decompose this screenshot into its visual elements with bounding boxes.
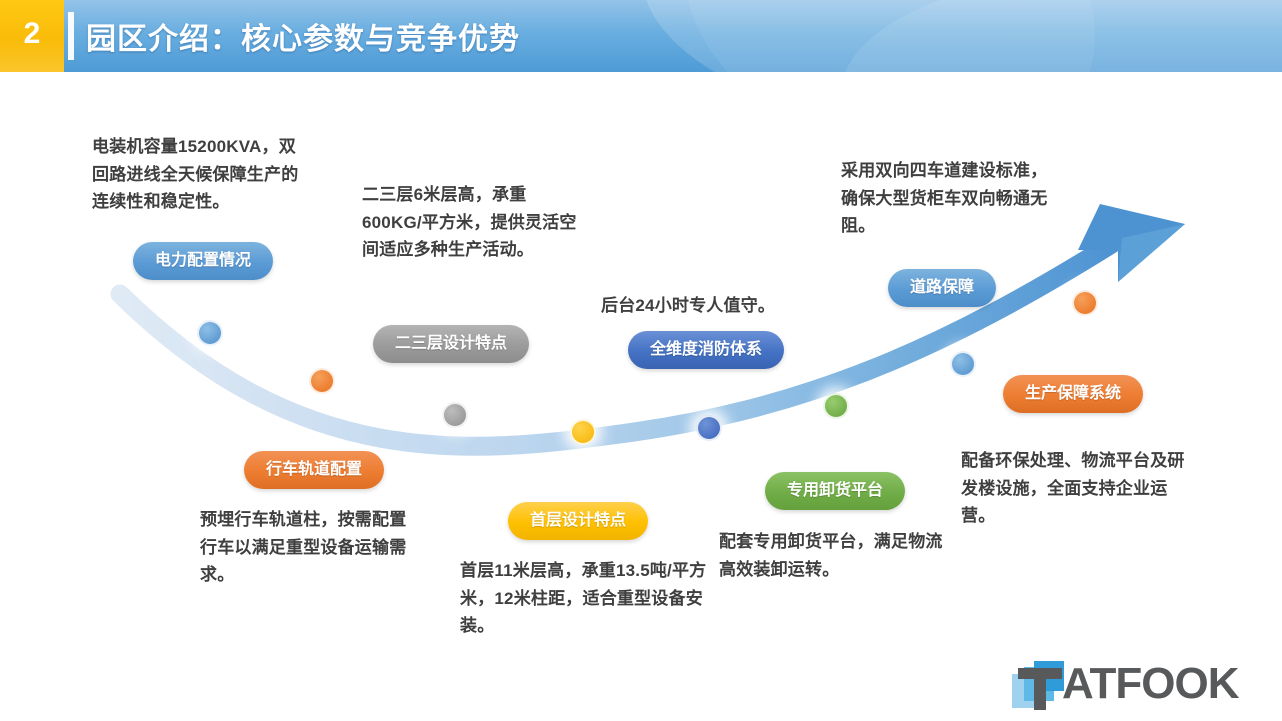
node-dot-unloading-platform <box>823 393 849 419</box>
tatfook-logo-mark-icon <box>1012 660 1064 708</box>
pill-floor-2-3[interactable]: 二三层设计特点 <box>373 325 529 363</box>
logo-letter-t <box>1018 668 1062 710</box>
header-decoration-curve-3 <box>646 0 1138 72</box>
slide: 2 园区介绍：核心参数与竞争优势 <box>0 0 1282 721</box>
pill-floor-1[interactable]: 首层设计特点 <box>508 502 648 540</box>
node-text-production-support: 配备环保处理、物流平台及研发楼设施，全面支持企业运营。 <box>961 447 1188 530</box>
logo-wordmark: ATFOOK <box>1062 660 1239 708</box>
node-dot-fire-system <box>696 415 722 441</box>
slide-number: 2 <box>24 17 41 51</box>
node-text-crane-rail: 预埋行车轨道柱，按需配置行车以满足重型设备运输需求。 <box>200 506 420 589</box>
node-text-road: 采用双向四车道建设标准，确保大型货柜车双向畅通无阻。 <box>841 157 1055 240</box>
pill-production-support[interactable]: 生产保障系统 <box>1003 375 1143 413</box>
node-dot-crane-rail <box>309 368 335 394</box>
node-dot-power <box>197 320 223 346</box>
pill-unloading-platform[interactable]: 专用卸货平台 <box>765 472 905 510</box>
node-text-floor-1: 首层11米层高，承重13.5吨/平方米，12米柱距，适合重型设备安装。 <box>460 557 710 640</box>
slide-number-badge: 2 <box>0 0 64 72</box>
pill-fire-system[interactable]: 全维度消防体系 <box>628 331 784 369</box>
title-divider <box>68 12 74 60</box>
node-text-fire-system: 后台24小时专人值守。 <box>601 292 831 320</box>
pill-road[interactable]: 道路保障 <box>888 269 996 307</box>
node-dot-road <box>950 351 976 377</box>
node-text-floor-2-3: 二三层6米层高，承重600KG/平方米，提供灵活空间适应多种生产活动。 <box>362 181 580 264</box>
pill-power[interactable]: 电力配置情况 <box>133 242 273 280</box>
node-text-unloading-platform: 配套专用卸货平台，满足物流高效装卸运转。 <box>719 528 944 583</box>
slide-header: 2 园区介绍：核心参数与竞争优势 <box>0 0 1282 72</box>
company-logo: ATFOOK <box>1006 658 1272 714</box>
node-dot-production-support <box>1072 290 1098 316</box>
page-title: 园区介绍：核心参数与竞争优势 <box>86 0 520 72</box>
node-dot-floor-1 <box>570 419 596 445</box>
node-text-power: 电装机容量15200KVA，双回路进线全天候保障生产的连续性和稳定性。 <box>92 133 307 216</box>
node-dot-floor-2-3 <box>442 402 468 428</box>
pill-crane-rail[interactable]: 行车轨道配置 <box>244 451 384 489</box>
